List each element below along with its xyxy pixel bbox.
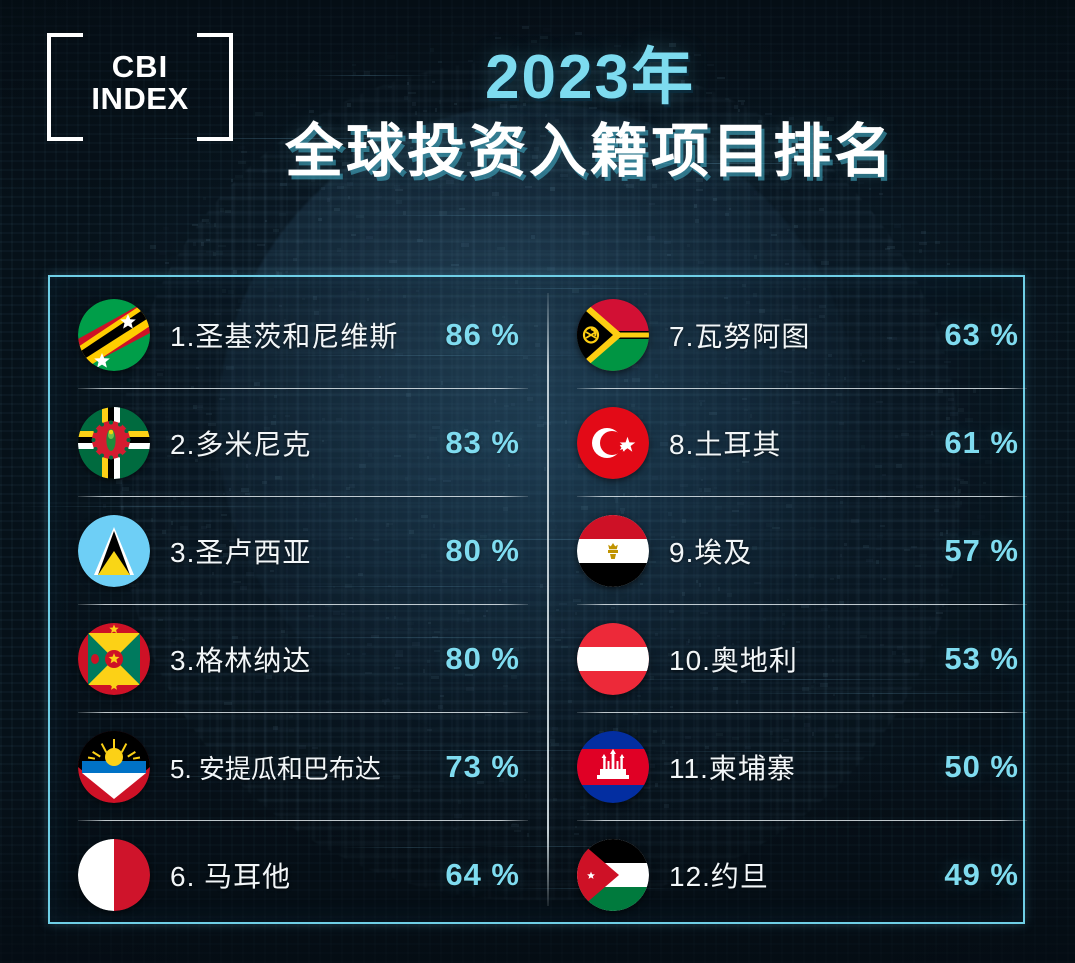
grenada-flag (78, 623, 150, 695)
score-value: 61 % (944, 425, 1019, 461)
cambodia-flag (577, 731, 649, 803)
row-divider (577, 496, 1027, 497)
jordan-flag (577, 839, 649, 911)
egypt-flag (577, 515, 649, 587)
score-value: 80 % (445, 641, 520, 677)
austria-flag (577, 623, 649, 695)
score-value: 73 % (445, 749, 520, 785)
page-title: 2023年 全球投资入籍项目排名 (240, 45, 940, 184)
country-label: 8.土耳其 (669, 423, 944, 463)
row-divider (78, 496, 528, 497)
country-label: 11.柬埔寨 (669, 747, 944, 787)
country-label: 10.奥地利 (669, 639, 944, 679)
country-label: 1.圣基茨和尼维斯 (170, 315, 445, 355)
score-value: 63 % (944, 317, 1019, 353)
ranking-column-left: 1.圣基茨和尼维斯86 %2.多米尼克83 %3.圣卢西亚80 %3.格林纳达8… (60, 277, 538, 922)
row-divider (577, 604, 1027, 605)
ranking-row: 8.土耳其61 % (559, 393, 1037, 493)
ranking-row: 2.多米尼克83 % (60, 393, 538, 493)
ranking-row: 5. 安提瓜和巴布达73 % (60, 717, 538, 817)
row-divider (78, 712, 528, 713)
ranking-row: 6. 马耳他64 % (60, 825, 538, 925)
country-label: 7.瓦努阿图 (669, 315, 944, 355)
score-value: 83 % (445, 425, 520, 461)
country-label: 6. 马耳他 (170, 855, 445, 895)
score-value: 80 % (445, 533, 520, 569)
malta-flag (78, 839, 150, 911)
row-divider (78, 388, 528, 389)
score-value: 50 % (944, 749, 1019, 785)
saint-lucia-flag (78, 515, 150, 587)
ranking-column-right: 7.瓦努阿图63 %8.土耳其61 %9.埃及57 %10.奥地利53 %11.… (559, 277, 1037, 922)
country-label: 3.格林纳达 (170, 639, 445, 679)
row-divider (78, 604, 528, 605)
country-label: 5. 安提瓜和巴布达 (170, 749, 445, 786)
ranking-row: 3.圣卢西亚80 % (60, 501, 538, 601)
country-label: 12.约旦 (669, 855, 944, 895)
dominica-flag (78, 407, 150, 479)
ranking-row: 9.埃及57 % (559, 501, 1037, 601)
ranking-row: 3.格林纳达80 % (60, 609, 538, 709)
score-value: 57 % (944, 533, 1019, 569)
country-label: 3.圣卢西亚 (170, 531, 445, 571)
logo-line-2: INDEX (47, 83, 233, 115)
title-subtitle: 全球投资入籍项目排名 (240, 120, 940, 184)
vanuatu-flag (577, 299, 649, 371)
country-label: 2.多米尼克 (170, 423, 445, 463)
antigua-and-barbuda-flag (78, 731, 150, 803)
ranking-row: 12.约旦49 % (559, 825, 1037, 925)
score-value: 53 % (944, 641, 1019, 677)
column-divider (547, 293, 549, 906)
logo-line-1: CBI (47, 51, 233, 83)
score-value: 49 % (944, 857, 1019, 893)
ranking-row: 10.奥地利53 % (559, 609, 1037, 709)
row-divider (577, 388, 1027, 389)
cbi-index-logo: CBI INDEX (47, 33, 233, 141)
ranking-panel: 1.圣基茨和尼维斯86 %2.多米尼克83 %3.圣卢西亚80 %3.格林纳达8… (48, 275, 1025, 924)
title-year: 2023年 (240, 45, 940, 110)
turkey-flag (577, 407, 649, 479)
ranking-row: 11.柬埔寨50 % (559, 717, 1037, 817)
row-divider (78, 820, 528, 821)
ranking-row: 7.瓦努阿图63 % (559, 285, 1037, 385)
score-value: 64 % (445, 857, 520, 893)
row-divider (577, 820, 1027, 821)
ranking-row: 1.圣基茨和尼维斯86 % (60, 285, 538, 385)
country-label: 9.埃及 (669, 531, 944, 571)
score-value: 86 % (445, 317, 520, 353)
saint-kitts-and-nevis-flag (78, 299, 150, 371)
row-divider (577, 712, 1027, 713)
logo-text: CBI INDEX (47, 51, 233, 114)
